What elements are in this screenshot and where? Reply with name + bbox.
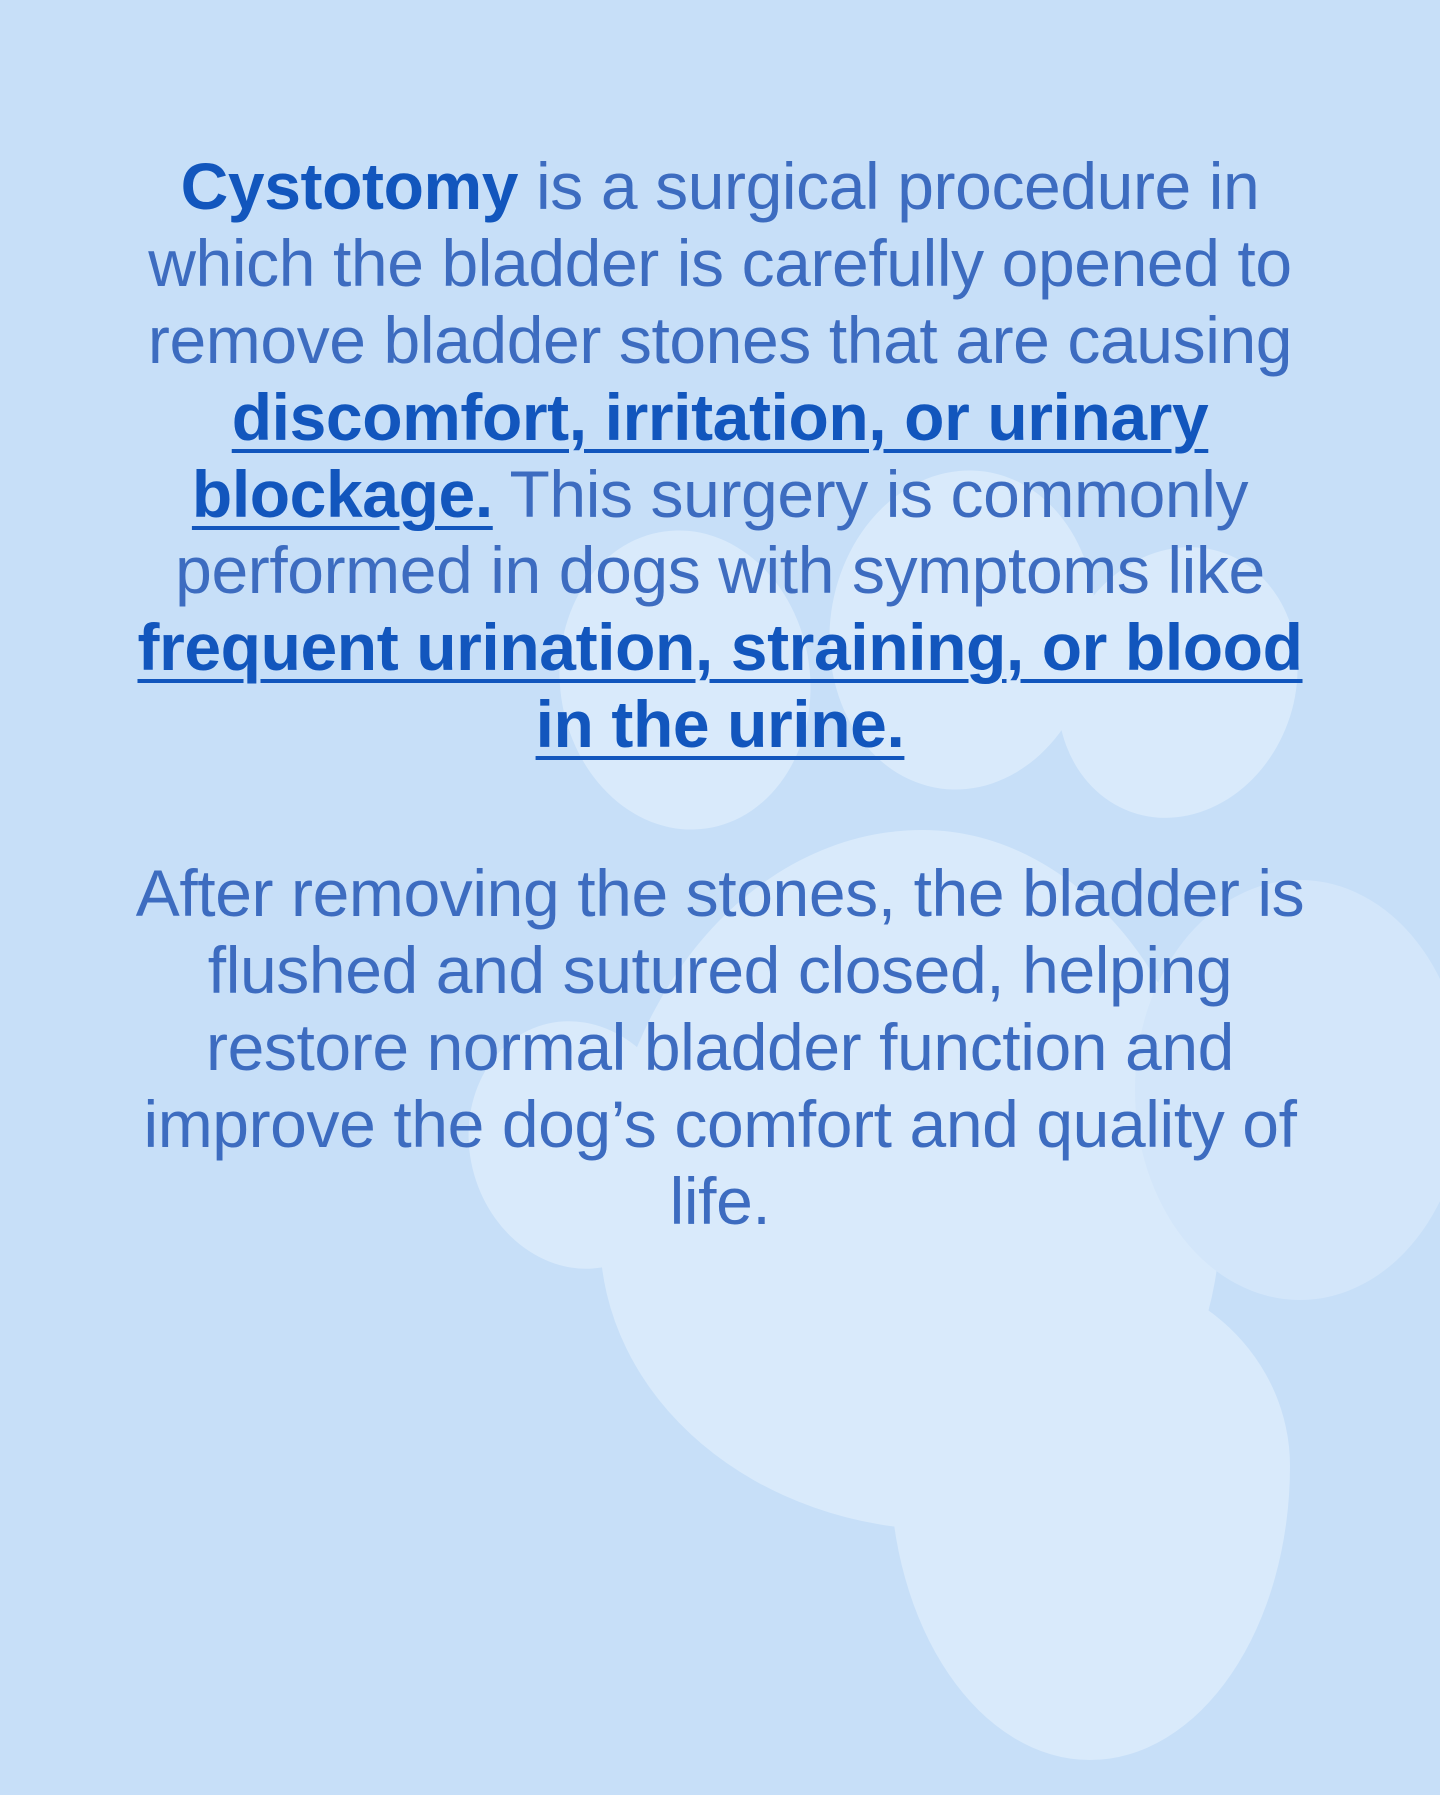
paragraph-one: Cystotomy is a surgical procedure in whi… bbox=[122, 148, 1318, 763]
highlight-symptoms-urination: frequent urination, straining, or blood … bbox=[137, 610, 1302, 761]
paw-lower-pad-shape bbox=[890, 1270, 1290, 1760]
infographic-canvas: Cystotomy is a surgical procedure in whi… bbox=[0, 0, 1440, 1795]
article-body: Cystotomy is a surgical procedure in whi… bbox=[0, 0, 1440, 1239]
paragraph-two: After removing the stones, the bladder i… bbox=[122, 855, 1318, 1239]
term-cystotomy: Cystotomy bbox=[181, 149, 518, 223]
